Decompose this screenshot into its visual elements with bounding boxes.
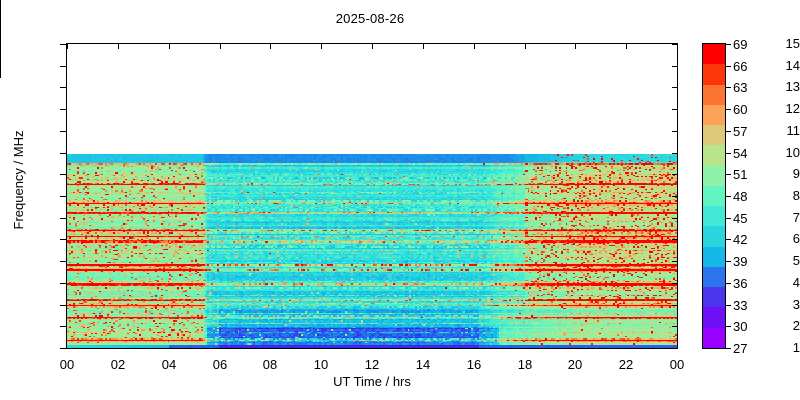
colorbar-tick-42 [726, 239, 731, 240]
y-axis-title: Frequency / MHz [12, 70, 26, 290]
colorbar-band-2 [703, 85, 725, 105]
x-tick-top-0 [67, 44, 68, 49]
colorbar-band-13 [703, 307, 725, 327]
x-tick-label-5: 10 [301, 358, 341, 372]
colorbar-tick-39 [726, 261, 731, 262]
x-tick-top-3 [220, 44, 221, 49]
y-tick-12 [60, 109, 66, 110]
x-tick-label-1: 02 [98, 358, 138, 372]
x-tick-top-8 [474, 44, 475, 49]
y-tick-5 [60, 261, 66, 262]
colorbar-band-0 [703, 44, 725, 64]
y-tick-right-9 [672, 174, 677, 175]
y-tick-right-4 [672, 283, 677, 284]
x-tick-label-4: 08 [250, 358, 290, 372]
x-tick-label-6: 12 [352, 358, 392, 372]
chart-title: 2025-08-26 [0, 11, 740, 26]
colorbar-band-12 [703, 287, 725, 307]
y-tick-15 [60, 44, 66, 45]
y-tick-right-5 [672, 261, 677, 262]
colorbar-tick-label-69: 69 [733, 38, 761, 51]
x-tick-top-1 [118, 44, 119, 49]
x-tick-top-6 [372, 44, 373, 49]
y-tick-right-3 [672, 305, 677, 306]
colorbar-tick-label-30: 30 [733, 320, 761, 333]
colorbar-band-6 [703, 166, 725, 186]
colorbar-tick-54 [726, 153, 731, 154]
colorbar-band-14 [703, 328, 725, 348]
y-tick-11 [60, 131, 66, 132]
x-tick-top-9 [525, 44, 526, 49]
y-tick-right-7 [672, 218, 677, 219]
x-tick-top-10 [575, 44, 576, 49]
colorbar-tick-33 [726, 305, 731, 306]
colorbar-tick-label-51: 51 [733, 168, 761, 181]
heatmap-image [67, 44, 677, 348]
x-tick-label-0: 00 [47, 358, 87, 372]
y-tick-right-6 [672, 239, 677, 240]
colorbar-tick-label-27: 27 [733, 342, 761, 355]
x-tick-label-10: 20 [555, 358, 595, 372]
colorbar-tick-label-60: 60 [733, 103, 761, 116]
x-tick-label-12: 00 [657, 358, 697, 372]
colorbar-tick-label-45: 45 [733, 212, 761, 225]
colorbar [702, 43, 726, 349]
y-tick-3 [60, 305, 66, 306]
colorbar-tick-66 [726, 66, 731, 67]
colorbar-tick-label-66: 66 [733, 60, 761, 73]
y-tick-7 [60, 218, 66, 219]
y-tick-14 [60, 66, 66, 67]
y-tick-right-8 [672, 196, 677, 197]
colorbar-band-11 [703, 267, 725, 287]
colorbar-tick-69 [726, 44, 731, 45]
colorbar-tick-label-63: 63 [733, 81, 761, 94]
colorbar-tick-label-39: 39 [733, 255, 761, 268]
x-tick-top-12 [677, 44, 678, 49]
colorbar-tick-label-36: 36 [733, 277, 761, 290]
y-tick-4 [60, 283, 66, 284]
colorbar-tick-label-57: 57 [733, 125, 761, 138]
colorbar-tick-label-48: 48 [733, 190, 761, 203]
y-tick-right-13 [672, 87, 677, 88]
x-tick-00 [0, 72, 1, 78]
colorbar-tick-label-33: 33 [733, 299, 761, 312]
x-tick-top-5 [321, 44, 322, 49]
x-tick-top-2 [169, 44, 170, 49]
colorbar-band-7 [703, 186, 725, 206]
colorbar-band-8 [703, 206, 725, 226]
colorbar-tick-51 [726, 174, 731, 175]
x-tick-label-2: 04 [149, 358, 189, 372]
spectrogram-figure: 2025-08-26 123456789101112131415 0002040… [0, 0, 800, 400]
y-tick-13 [60, 87, 66, 88]
y-tick-right-10 [672, 153, 677, 154]
colorbar-tick-30 [726, 326, 731, 327]
y-tick-right-2 [672, 326, 677, 327]
y-tick-6 [60, 239, 66, 240]
colorbar-tick-36 [726, 283, 731, 284]
y-tick-right-1 [672, 348, 677, 349]
y-tick-1 [60, 348, 66, 349]
x-tick-top-7 [423, 44, 424, 49]
colorbar-band-3 [703, 105, 725, 125]
y-tick-9 [60, 174, 66, 175]
x-tick-label-8: 16 [454, 358, 494, 372]
x-tick-top-11 [626, 44, 627, 49]
y-tick-right-14 [672, 66, 677, 67]
colorbar-tick-57 [726, 131, 731, 132]
colorbar-tick-48 [726, 196, 731, 197]
colorbar-tick-63 [726, 87, 731, 88]
colorbar-tick-60 [726, 109, 731, 110]
plot-area [66, 43, 678, 349]
colorbar-band-5 [703, 145, 725, 165]
colorbar-tick-label-54: 54 [733, 147, 761, 160]
colorbar-band-10 [703, 247, 725, 267]
x-tick-label-9: 18 [505, 358, 545, 372]
x-tick-top-4 [270, 44, 271, 49]
y-tick-right-11 [672, 131, 677, 132]
y-tick-10 [60, 153, 66, 154]
colorbar-band-4 [703, 125, 725, 145]
colorbar-tick-27 [726, 348, 731, 349]
x-tick-label-3: 06 [200, 358, 240, 372]
y-tick-8 [60, 196, 66, 197]
y-tick-2 [60, 326, 66, 327]
colorbar-band-9 [703, 226, 725, 246]
x-tick-label-11: 22 [606, 358, 646, 372]
y-tick-right-12 [672, 109, 677, 110]
x-axis-title: UT Time / hrs [66, 375, 678, 389]
colorbar-band-1 [703, 64, 725, 84]
x-tick-label-7: 14 [403, 358, 443, 372]
colorbar-tick-45 [726, 218, 731, 219]
colorbar-tick-label-42: 42 [733, 233, 761, 246]
